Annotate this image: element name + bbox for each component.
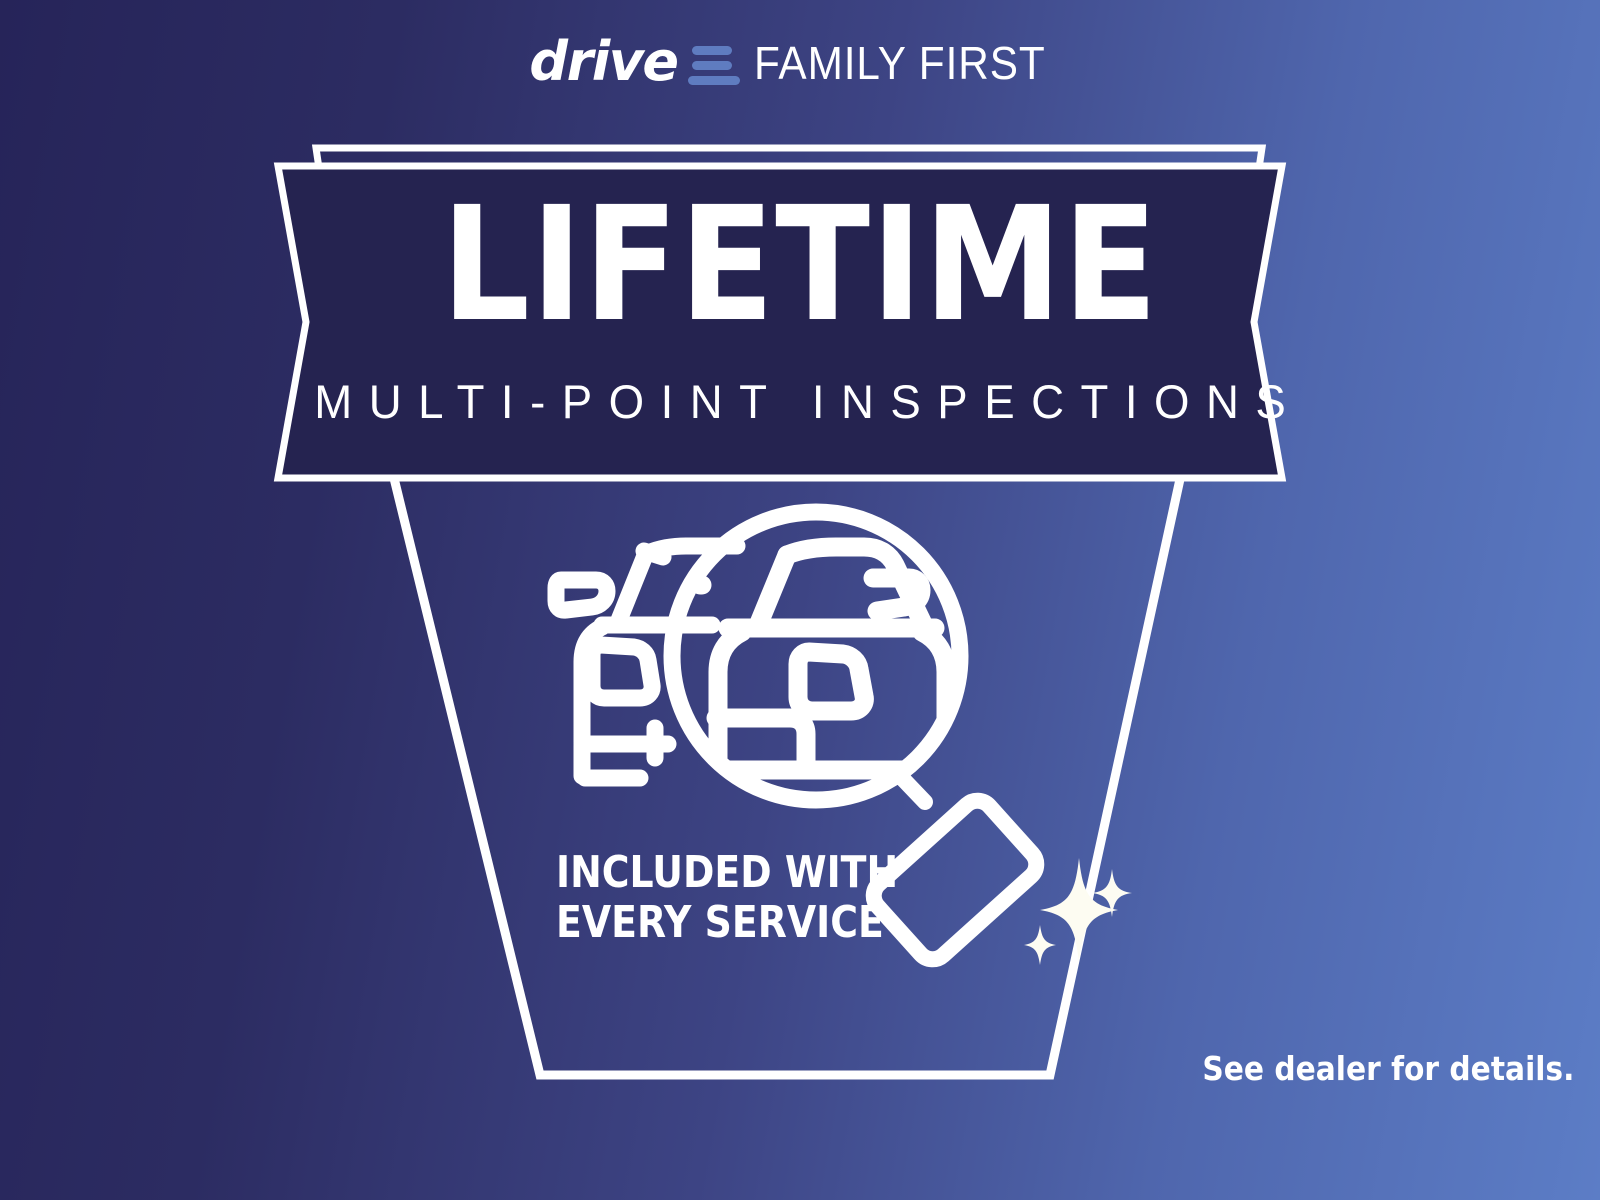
banner-title: LIFETIME bbox=[96, 186, 1504, 344]
drive-bar-top bbox=[692, 46, 732, 55]
included-line-1: INCLUDED WITH bbox=[556, 848, 898, 898]
promo-graphic: LIFETIME MULTI-POINT INSPECTIONS drive F… bbox=[0, 0, 1600, 1200]
included-line-2: EVERY SERVICE bbox=[556, 898, 898, 948]
disclaimer-text: See dealer for details. bbox=[1202, 1052, 1574, 1085]
brand-lockup: drive FAMILY FIRST bbox=[0, 28, 1600, 98]
included-with-every-service: INCLUDED WITH EVERY SERVICE bbox=[556, 848, 898, 947]
brand-tagline: FAMILY FIRST bbox=[754, 40, 1046, 86]
brand-wordmark: drive bbox=[529, 35, 677, 89]
drive-bar-bottom bbox=[688, 76, 740, 85]
drive-bar-middle bbox=[692, 61, 732, 70]
banner-subtitle: MULTI-POINT INSPECTIONS bbox=[24, 378, 1576, 425]
drive-bars-icon bbox=[688, 46, 740, 85]
